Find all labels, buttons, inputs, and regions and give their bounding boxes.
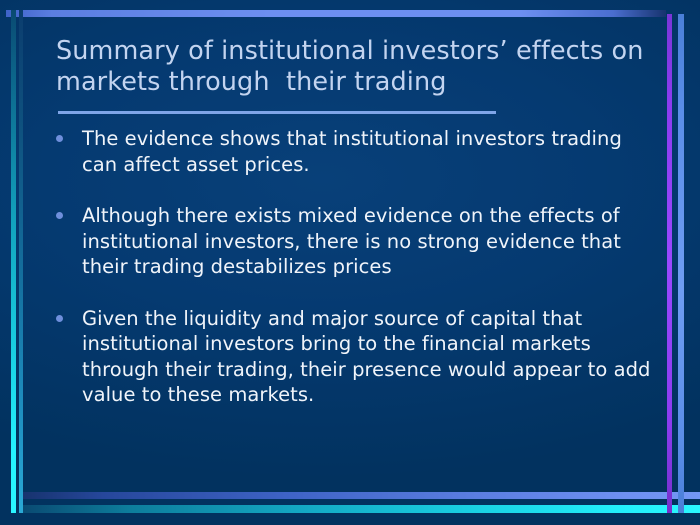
bullet-dot-icon bbox=[56, 212, 63, 219]
list-item: Given the liquidity and major source of … bbox=[56, 306, 652, 408]
list-item-text: The evidence shows that institutional in… bbox=[82, 126, 652, 177]
slide-content: Summary of institutional investors’ effe… bbox=[0, 0, 700, 525]
bullet-dot-icon bbox=[56, 135, 63, 142]
list-item-text: Although there exists mixed evidence on … bbox=[82, 203, 652, 280]
bullet-marker bbox=[56, 126, 82, 142]
slide-title: Summary of institutional investors’ effe… bbox=[56, 36, 648, 98]
list-item-text: Given the liquidity and major source of … bbox=[82, 306, 652, 408]
bullet-marker bbox=[56, 203, 82, 219]
bullet-dot-icon bbox=[56, 315, 63, 322]
title-underline-rule bbox=[58, 111, 496, 114]
presentation-slide: Summary of institutional investors’ effe… bbox=[0, 0, 700, 525]
bullet-marker bbox=[56, 306, 82, 322]
list-item: The evidence shows that institutional in… bbox=[56, 126, 652, 177]
list-item: Although there exists mixed evidence on … bbox=[56, 203, 652, 280]
bullet-list: The evidence shows that institutional in… bbox=[56, 126, 652, 434]
